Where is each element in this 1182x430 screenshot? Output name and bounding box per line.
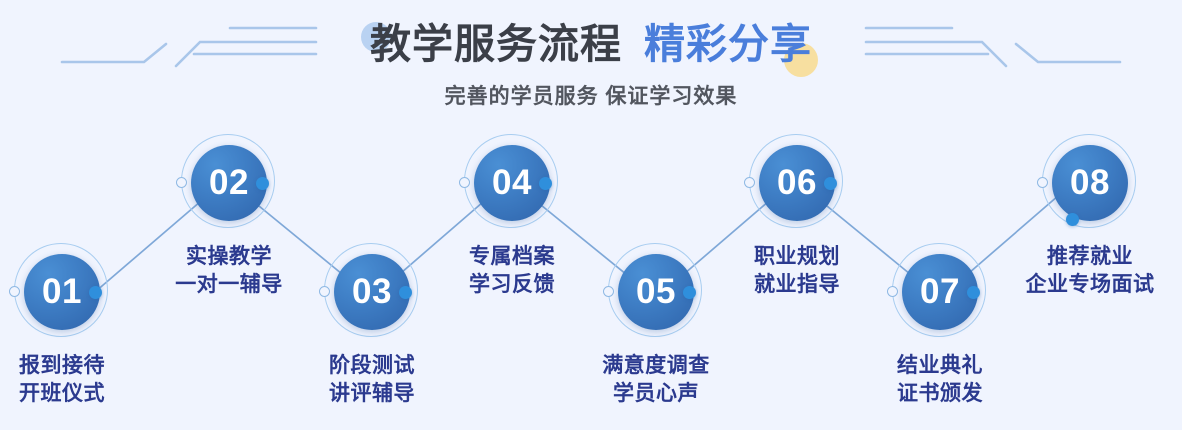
- node-caption-line1-01: 报到接待: [0, 352, 140, 380]
- node-number-badge-08: 08: [1052, 145, 1128, 221]
- title-row: 教学服务流程 精彩分享: [0, 14, 1182, 74]
- header: 教学服务流程 精彩分享 完善的学员服务 保证学习效果: [0, 0, 1182, 120]
- node-number-07: 07: [920, 272, 960, 312]
- node-number-05: 05: [636, 272, 676, 312]
- node-caption-03: 阶段测试 讲评辅导: [294, 352, 450, 408]
- node-caption-line2-06: 就业指导: [719, 271, 875, 299]
- node-ring-marker-04: [459, 177, 470, 188]
- node-caption-line1-02: 实操教学: [143, 243, 315, 271]
- node-ring-marker-07: [887, 286, 898, 297]
- node-connector-dot-01: [89, 286, 102, 299]
- node-ring-marker-08: [1037, 177, 1048, 188]
- infographic-canvas: 教学服务流程 精彩分享 完善的学员服务 保证学习效果: [0, 0, 1182, 430]
- node-number-01: 01: [42, 272, 82, 312]
- page-subtitle: 完善的学员服务 保证学习效果: [0, 80, 1182, 110]
- node-connector-dot-07: [967, 286, 980, 299]
- node-number-02: 02: [209, 163, 249, 203]
- node-connector-dot-05: [683, 286, 696, 299]
- node-caption-line1-08: 推荐就业: [994, 243, 1182, 271]
- node-caption-line2-02: 一对一辅导: [143, 271, 315, 299]
- node-caption-line2-05: 学员心声: [568, 380, 744, 408]
- node-caption-line1-04: 专属档案: [434, 243, 590, 271]
- page-title-text: 教学服务流程: [370, 21, 622, 67]
- node-connector-dot-04: [539, 177, 552, 190]
- node-ring-marker-05: [603, 286, 614, 297]
- node-caption-line1-03: 阶段测试: [294, 352, 450, 380]
- node-connector-dot-08: [1066, 213, 1079, 226]
- node-caption-line1-06: 职业规划: [719, 243, 875, 271]
- node-caption-08: 推荐就业 企业专场面试: [994, 243, 1182, 299]
- node-caption-02: 实操教学 一对一辅导: [143, 243, 315, 299]
- node-caption-line1-07: 结业典礼: [862, 352, 1018, 380]
- page-title-accent-text: 精彩分享: [644, 21, 812, 67]
- page-title-accent: 精彩分享: [644, 24, 812, 65]
- node-caption-line2-07: 证书颁发: [862, 380, 1018, 408]
- node-ring-marker-01: [9, 286, 20, 297]
- node-caption-01: 报到接待 开班仪式: [0, 352, 140, 408]
- node-caption-07: 结业典礼 证书颁发: [862, 352, 1018, 408]
- node-caption-04: 专属档案 学习反馈: [434, 243, 590, 299]
- node-caption-line2-08: 企业专场面试: [994, 271, 1182, 299]
- node-number-04: 04: [492, 163, 532, 203]
- node-caption-05: 满意度调查 学员心声: [568, 352, 744, 408]
- node-connector-dot-06: [824, 177, 837, 190]
- node-caption-line2-03: 讲评辅导: [294, 380, 450, 408]
- node-ring-marker-06: [744, 177, 755, 188]
- node-number-08: 08: [1070, 163, 1110, 203]
- node-number-03: 03: [352, 272, 392, 312]
- node-connector-dot-03: [399, 286, 412, 299]
- node-ring-marker-02: [176, 177, 187, 188]
- node-number-06: 06: [777, 163, 817, 203]
- node-caption-06: 职业规划 就业指导: [719, 243, 875, 299]
- page-title: 教学服务流程: [370, 24, 622, 65]
- node-caption-line2-04: 学习反馈: [434, 271, 590, 299]
- node-connector-dot-02: [256, 177, 269, 190]
- process-flow: 01 报到接待 开班仪式 02 实操教学 一对一辅导: [0, 120, 1182, 430]
- node-ring-marker-03: [319, 286, 330, 297]
- node-caption-line2-01: 开班仪式: [0, 380, 140, 408]
- node-caption-line1-05: 满意度调查: [568, 352, 744, 380]
